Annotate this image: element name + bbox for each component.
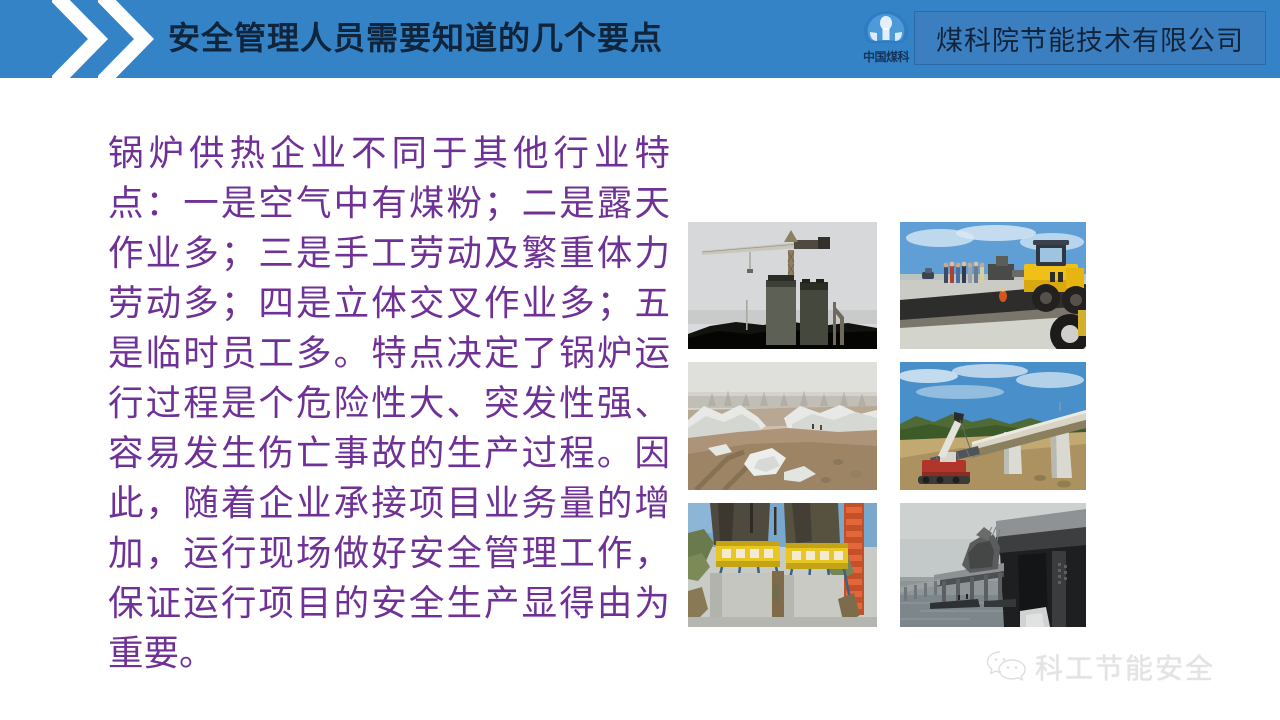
logo-caption: 中国煤科 — [855, 48, 917, 65]
header-banner: 安全管理人员需要知道的几个要点 中国煤科 煤科院节能技术有限公司 — [0, 0, 1280, 78]
wechat-icon — [985, 649, 1027, 685]
photo-tower-crane — [688, 222, 877, 349]
photo-bridge-girder — [900, 362, 1086, 490]
photo-river-bridge — [900, 503, 1086, 627]
photo-road-paving — [900, 222, 1086, 349]
company-logo: 中国煤科 — [855, 8, 917, 70]
watermark-label: 科工节能安全 — [1035, 647, 1215, 687]
company-name-box: 煤科院节能技术有限公司 — [914, 11, 1266, 65]
photo-gallery — [688, 222, 1086, 627]
double-chevron-right-icon — [52, 0, 182, 78]
page-title: 安全管理人员需要知道的几个要点 — [168, 13, 663, 63]
company-name: 煤科院节能技术有限公司 — [936, 19, 1244, 58]
china-coal-emblem-icon — [861, 10, 911, 46]
photo-pier-scaffolding — [688, 503, 877, 627]
chevron-right-icon-2 — [98, 0, 168, 78]
main-paragraph: 锅炉供热企业不同于其他行业特点：一是空气中有煤粉；二是露天作业多；三是手工劳动及… — [108, 128, 670, 678]
photo-earthworks — [688, 362, 877, 490]
wechat-watermark: 科工节能安全 — [985, 645, 1245, 689]
